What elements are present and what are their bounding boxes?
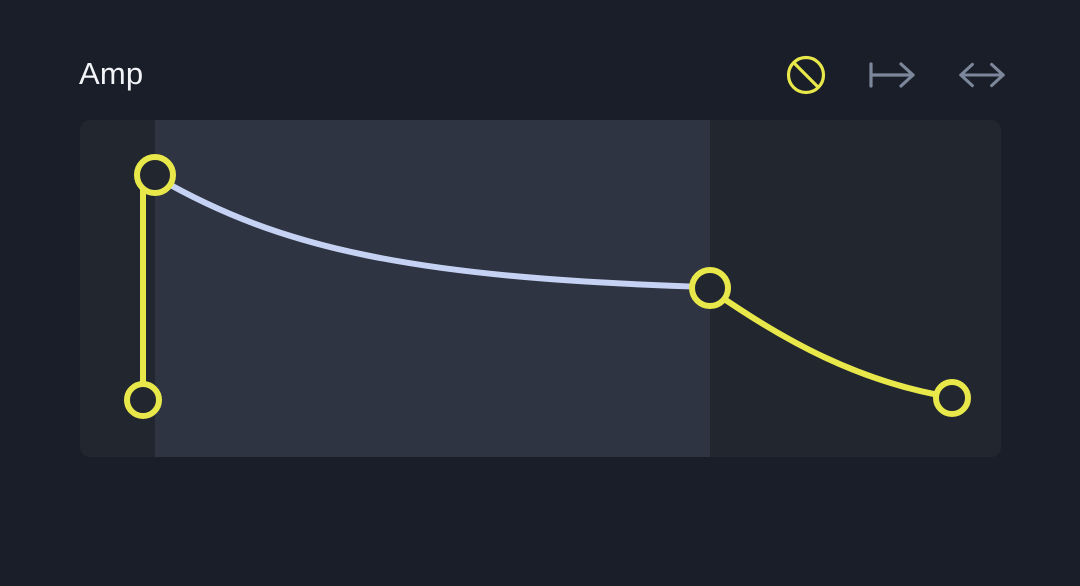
node-start[interactable]: [127, 384, 159, 416]
arrow-from-bar-right-icon: [868, 58, 918, 92]
release-segment: [714, 292, 950, 397]
prohibited-circle-icon: [783, 52, 829, 98]
decay-segment: [158, 178, 708, 287]
node-sustain[interactable]: [692, 270, 728, 306]
page-title: Amp: [79, 57, 143, 91]
loop-icon[interactable]: [957, 50, 1007, 100]
amp-envelope-editor: Amp: [0, 0, 1080, 586]
mode-off-icon[interactable]: [781, 50, 831, 100]
node-peak[interactable]: [137, 157, 173, 193]
one-shot-icon[interactable]: [868, 50, 918, 100]
envelope-graph[interactable]: [80, 120, 1001, 457]
double-arrow-horizontal-icon: [957, 58, 1007, 92]
header: Amp: [0, 0, 1080, 120]
node-end[interactable]: [936, 382, 968, 414]
parameter-row: T S V A 4ms D 10s S -8.3db R 584ms: [0, 470, 1080, 540]
envelope-panel[interactable]: [80, 120, 1001, 457]
